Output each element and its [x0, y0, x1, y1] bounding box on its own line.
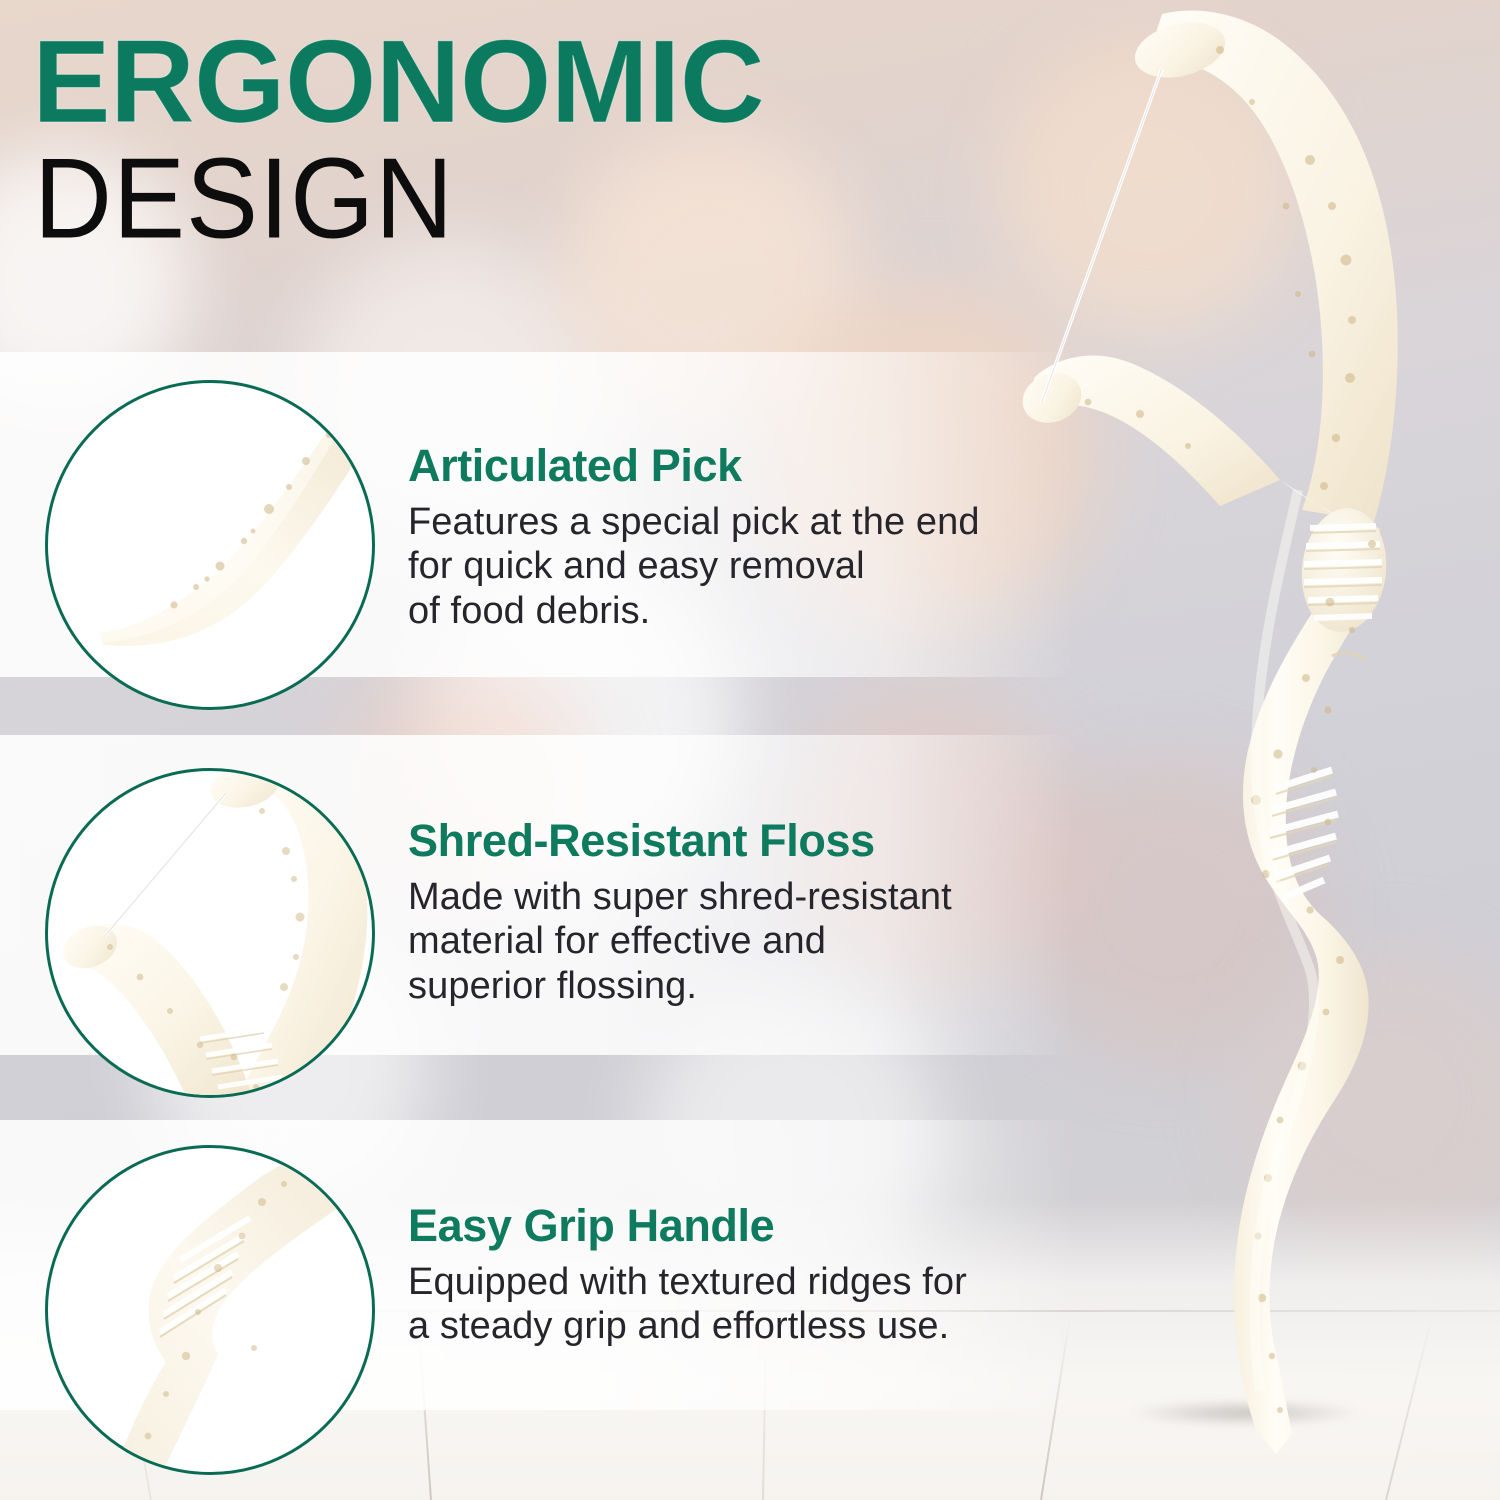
- callout-circle-easy-grip-handle: [45, 1145, 375, 1475]
- product-photo-floss-pick: [980, 10, 1480, 1470]
- callout-circle-shred-resistant-floss: [45, 768, 375, 1098]
- infographic-canvas: ERGONOMIC DESIGN: [0, 0, 1500, 1500]
- title-line-ergonomic: ERGONOMIC: [32, 28, 764, 137]
- textured-grip-handle-closeup-icon: [48, 1148, 372, 1472]
- page-title: ERGONOMIC DESIGN: [32, 28, 764, 249]
- floss-pick-tip-closeup-icon: [48, 383, 372, 707]
- floss-head-strand-closeup-icon: [48, 771, 372, 1095]
- title-line-design: DESIGN: [34, 141, 764, 255]
- callout-circle-articulated-pick: [45, 380, 375, 710]
